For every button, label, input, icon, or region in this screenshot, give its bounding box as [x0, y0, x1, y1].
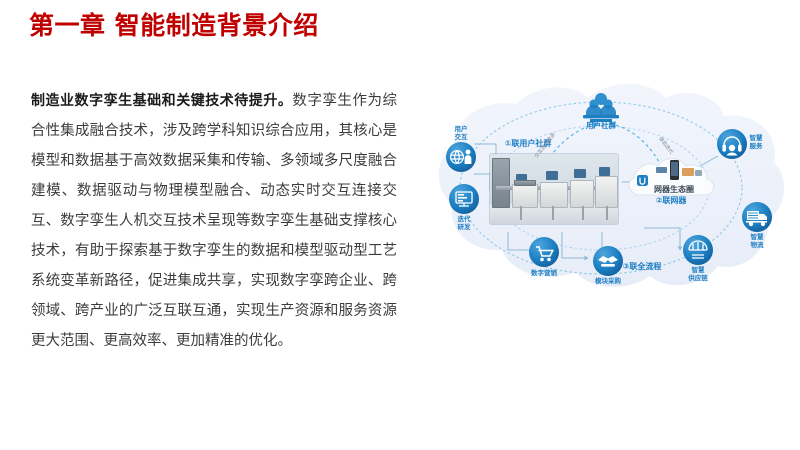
- body-lead-sentence: 制造业数字孪生基础和关键技术待提升。: [31, 93, 292, 109]
- node-digital-marketing[interactable]: [529, 237, 559, 267]
- node-module-purchase[interactable]: [593, 246, 623, 276]
- stage-label-2: ②联网器: [656, 196, 687, 205]
- photo-machine: [570, 180, 594, 208]
- node-smart-service[interactable]: [717, 129, 747, 159]
- body-text-column: 制造业数字孪生基础和关键技术待提升。数字孪生作为综合性集成融合技术，涉及跨学科知…: [31, 86, 397, 356]
- node-user-community-label: 用户社群: [586, 122, 616, 130]
- photo-leg: [582, 206, 584, 220]
- node-smart-supply-label-2: 供应链: [688, 275, 708, 283]
- node-iterative-rd[interactable]: [449, 184, 479, 214]
- page-title: 第一章 智能制造背景介绍: [29, 11, 319, 41]
- node-user-interaction[interactable]: [446, 142, 476, 172]
- photo-screen: [599, 167, 610, 176]
- photo-leg: [520, 206, 522, 220]
- production-line-photo: [490, 154, 618, 224]
- node-module-purchase-label: 模块采购: [595, 278, 621, 286]
- inner-cloud-label: 网器生态圈: [654, 184, 694, 195]
- photo-machine: [540, 182, 568, 208]
- photo-machine: [514, 180, 536, 186]
- photo-leg: [552, 206, 554, 220]
- node-smart-supply[interactable]: [683, 235, 713, 265]
- body-paragraph: 制造业数字孪生基础和关键技术待提升。数字孪生作为综合性集成融合技术，涉及跨学科知…: [31, 86, 397, 356]
- photo-screen: [574, 169, 586, 178]
- node-iterative-rd-label-2: 研发: [458, 224, 471, 232]
- slide-root: 第一章 智能制造背景介绍 制造业数字孪生基础和关键技术待提升。数字孪生作为综合性…: [0, 0, 800, 450]
- ecosystem-diagram: 用户 交互 用户社群 智慧 服务 智慧 物流 智慧 供应链 模块采购 数字营销 …: [412, 82, 790, 294]
- node-digital-marketing-label: 数字营销: [531, 270, 557, 278]
- node-smart-logistics[interactable]: [742, 202, 772, 232]
- node-smart-logistics-label-2: 物流: [751, 242, 764, 250]
- stage-label-3: ③联全流程: [623, 262, 662, 271]
- photo-machine: [595, 176, 618, 208]
- photo-machine: [512, 184, 538, 208]
- photo-screen: [546, 171, 558, 180]
- node-smart-service-label-2: 服务: [750, 143, 763, 151]
- photo-leg: [606, 206, 608, 220]
- body-paragraph-text: 数字孪生作为综合性集成融合技术，涉及跨学科知识综合应用，其核心是模型和数据基于高…: [31, 93, 397, 349]
- photo-machine: [492, 158, 510, 208]
- node-user-interaction-label-2: 交互: [455, 134, 468, 142]
